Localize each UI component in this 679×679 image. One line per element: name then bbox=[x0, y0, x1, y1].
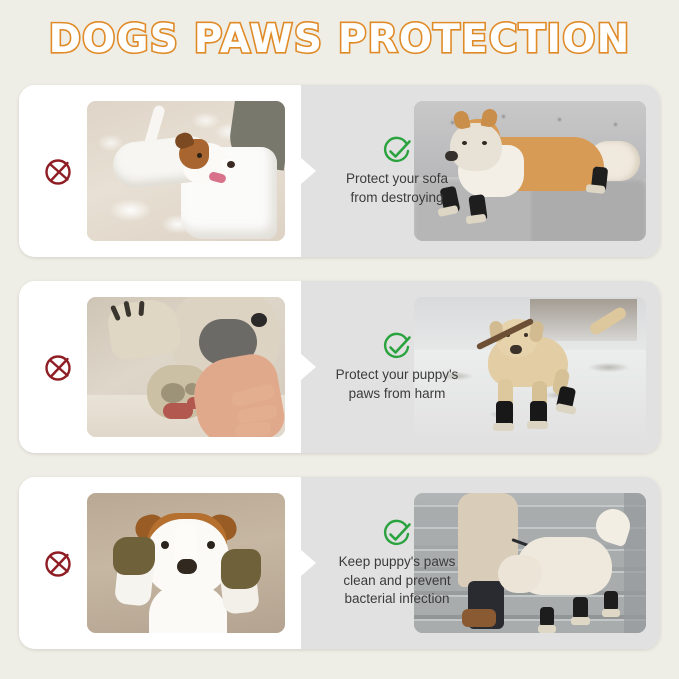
circled-check-icon bbox=[380, 134, 414, 168]
caption-line: bacterial infection bbox=[323, 590, 471, 609]
before-photo bbox=[87, 297, 285, 437]
panel-after-side: Keep puppy's paws clean and prevent bact… bbox=[301, 477, 660, 649]
caption-line: paws from harm bbox=[323, 385, 471, 404]
benefit-panel: Protect your sofa from destroying bbox=[19, 85, 660, 257]
page-title-wrap: DOGS PAWS PROTECTION bbox=[0, 0, 679, 78]
panel-before-side bbox=[19, 85, 301, 257]
circled-check-icon bbox=[380, 330, 414, 364]
benefit-caption: Keep puppy's paws clean and prevent bact… bbox=[323, 517, 471, 609]
circled-cross-icon bbox=[42, 546, 76, 580]
caption-line: from destroying bbox=[323, 189, 471, 208]
caption-line: Keep puppy's paws bbox=[323, 553, 471, 572]
benefit-panel: Protect your puppy's paws from harm bbox=[19, 281, 660, 453]
caption-line: clean and prevent bbox=[323, 572, 471, 591]
benefit-caption: Protect your puppy's paws from harm bbox=[323, 330, 471, 403]
caption-line: Protect your puppy's bbox=[323, 366, 471, 385]
chevron-right-icon bbox=[301, 350, 317, 384]
circled-check-icon bbox=[380, 517, 414, 551]
chevron-right-icon bbox=[301, 154, 317, 188]
page-title: DOGS PAWS PROTECTION bbox=[49, 17, 631, 62]
panel-before-side bbox=[19, 477, 301, 649]
before-photo bbox=[87, 493, 285, 633]
panel-before-side bbox=[19, 281, 301, 453]
infographic-page: DOGS PAWS PROTECTION bbox=[0, 0, 679, 679]
benefit-caption: Protect your sofa from destroying bbox=[323, 134, 471, 207]
chevron-right-icon bbox=[301, 546, 317, 580]
circled-cross-icon bbox=[42, 154, 76, 188]
circled-cross-icon bbox=[42, 350, 76, 384]
panel-after-side: Protect your sofa from destroying bbox=[301, 85, 660, 257]
panel-after-side: Protect your puppy's paws from harm bbox=[301, 281, 660, 453]
before-photo bbox=[87, 101, 285, 241]
caption-line: Protect your sofa bbox=[323, 170, 471, 189]
benefit-panel: Keep puppy's paws clean and prevent bact… bbox=[19, 477, 660, 649]
